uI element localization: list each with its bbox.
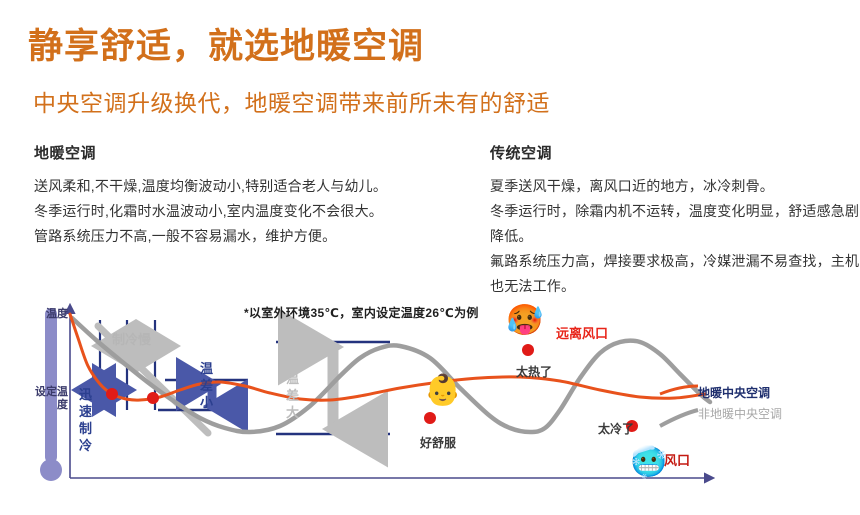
marker-label-comfortable: 好舒服 [420,434,456,451]
setpoint-label: 设定温度 [34,386,68,412]
legend-swatch-non-floor-heating [660,410,698,426]
column-left-line-1: 送风柔和,不干燥,温度均衡波动小,特别适合老人与幼儿。 [34,174,484,199]
y-axis-label: 温度 [34,308,68,321]
legend-label-non-floor-heating: 非地暖中央空调 [698,405,782,422]
marker-dot-1 [147,392,159,404]
annotation-temp-diff-big: 温差大 [285,370,300,421]
chart-note: *以室外环境35℃，室内设定温度26℃为例 [244,304,479,321]
too-cold-person-icon: 🥶 [630,448,667,478]
column-right-line-2: 冬季运行时，除霜内机不运转，温度变化明显，舒适感急剧降低。 [490,199,860,249]
marker-dot-0 [106,388,118,400]
marker-label-too-cold: 太冷了 [598,420,634,437]
marker-dot-2 [424,412,436,424]
column-right-heading: 传统空调 [490,142,860,163]
column-right-line-1: 夏季送风干燥，离风口近的地方，冰冷刺骨。 [490,174,860,199]
column-left-line-3: 管路系统压力不高,一般不容易漏水，维护方便。 [34,224,484,249]
page-title: 静享舒适，就选地暖空调 [28,18,424,69]
column-right-line-3: 氟路系统压力高，焊接要求极高，冷媒泄漏不易查找，主机也无法工作。 [490,249,860,299]
page-subtitle: 中央空调升级换代，地暖空调带来前所未有的舒适 [33,84,550,118]
marker-label-too-hot: 太热了 [516,363,552,380]
marker-dot-3 [522,344,534,356]
series-line-non-floor-heating [72,318,710,432]
annotation-far-from-vent: 远离风口 [556,323,608,342]
annotation-fast-cooling: 迅速制冷 [78,386,93,454]
column-floor-heating-ac: 地暖空调 送风柔和,不干燥,温度均衡波动小,特别适合老人与幼儿。 冬季运行时,化… [34,142,484,249]
column-left-heading: 地暖空调 [34,142,484,163]
too-hot-person-icon: 🥵 [506,306,543,336]
column-traditional-ac: 传统空调 夏季送风干燥，离风口近的地方，冰冷刺骨。 冬季运行时，除霜内机不运转，… [490,142,860,299]
legend-swatch-floor-heating [660,386,698,394]
legend-label-floor-heating: 地暖中央空调 [698,384,770,401]
temperature-comparison-chart: 温度 设定温度 *以室外环境35℃，室内设定温度26℃为例 制冷慢 迅速制冷 温… [0,298,860,515]
annotation-slow-cooling: 制冷慢 [112,329,151,348]
comfortable-baby-icon: 👶 [424,376,461,406]
slide-root: 静享舒适，就选地暖空调 中央空调升级换代，地暖空调带来前所未有的舒适 地暖空调 … [0,0,860,515]
column-left-line-2: 冬季运行时,化霜时水温波动小,室内温度变化不会很大。 [34,199,484,224]
annotation-temp-diff-small: 温差小 [199,360,214,411]
